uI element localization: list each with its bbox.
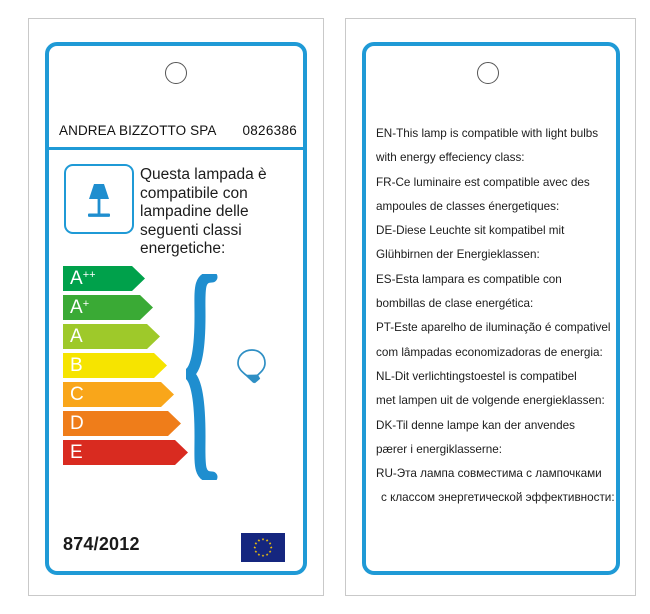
energy-class-label: B [70, 356, 83, 375]
energy-class-arrow: A [63, 324, 160, 349]
energy-class-superscript: ++ [83, 270, 96, 281]
language-line: com lâmpadas economizadoras de energia: [376, 341, 608, 365]
energy-class-arrow: D [63, 411, 181, 436]
energy-class-row: A+ [63, 295, 188, 320]
eu-flag-icon [241, 533, 285, 562]
header-divider [47, 147, 305, 150]
label-sheet: ANDREA BIZZOTTO SPA 0826386 Questa lampa… [0, 0, 650, 614]
energy-class-label: A++ [70, 269, 96, 288]
table-lamp-icon [64, 164, 134, 234]
energy-class-label: C [70, 385, 84, 404]
language-line: DK-Til denne lampe kan der anvendes [376, 414, 608, 438]
brand-name: ANDREA BIZZOTTO SPA [59, 123, 216, 138]
energy-class-row: A++ [63, 266, 188, 291]
punch-hole-icon [477, 62, 499, 84]
language-line: NL-Dit verlichtingstoestel is compatibel [376, 365, 608, 389]
italian-caption: Questa lampada è compatibile con lampadi… [140, 166, 292, 259]
language-line: с классом энергетической эффективности: [376, 486, 608, 510]
left-tag-header: ANDREA BIZZOTTO SPA 0826386 [49, 115, 303, 145]
language-line: met lampen uit de volgende energieklasse… [376, 389, 608, 413]
energy-class-row: B [63, 353, 188, 378]
language-line: Glühbirnen der Energieklassen: [376, 243, 608, 267]
energy-class-label: D [70, 414, 84, 433]
product-code: 0826386 [242, 123, 297, 138]
energy-class-row: D [63, 411, 188, 436]
energy-class-arrow: E [63, 440, 188, 465]
light-bulb-icon [233, 344, 277, 388]
language-line: pærer i energiklasserne: [376, 438, 608, 462]
energy-class-arrow: C [63, 382, 174, 407]
energy-class-row: E [63, 440, 188, 465]
curly-brace-icon [186, 274, 228, 480]
punch-hole-icon [165, 62, 187, 84]
language-line: RU-Эта лампа совместима с лампочками [376, 462, 608, 486]
energy-class-label: E [70, 443, 83, 462]
energy-class-arrow: A+ [63, 295, 153, 320]
language-line: bombillas de clase energética: [376, 292, 608, 316]
language-line: ampoules de classes énergetiques: [376, 195, 608, 219]
language-line: EN-This lamp is compatible with light bu… [376, 122, 608, 146]
language-line: FR-Ce luminaire est compatible avec des [376, 171, 608, 195]
energy-class-row: A [63, 324, 188, 349]
regulation-number: 874/2012 [63, 534, 140, 555]
multilingual-text-block: EN-This lamp is compatible with light bu… [376, 122, 608, 511]
energy-class-row: C [63, 382, 188, 407]
energy-class-scale: A++A+ABCDE [63, 266, 188, 469]
energy-class-arrow: A++ [63, 266, 145, 291]
energy-class-superscript: + [83, 299, 89, 310]
energy-class-arrow: B [63, 353, 167, 378]
language-line: DE-Diese Leuchte sit kompatibel mit [376, 219, 608, 243]
language-line: with energy effeciency class: [376, 146, 608, 170]
energy-class-label: A+ [70, 298, 89, 317]
language-line: ES-Esta lampara es compatible con [376, 268, 608, 292]
language-line: PT-Este aparelho de iluminação é compati… [376, 316, 608, 340]
energy-class-label: A [70, 327, 83, 346]
